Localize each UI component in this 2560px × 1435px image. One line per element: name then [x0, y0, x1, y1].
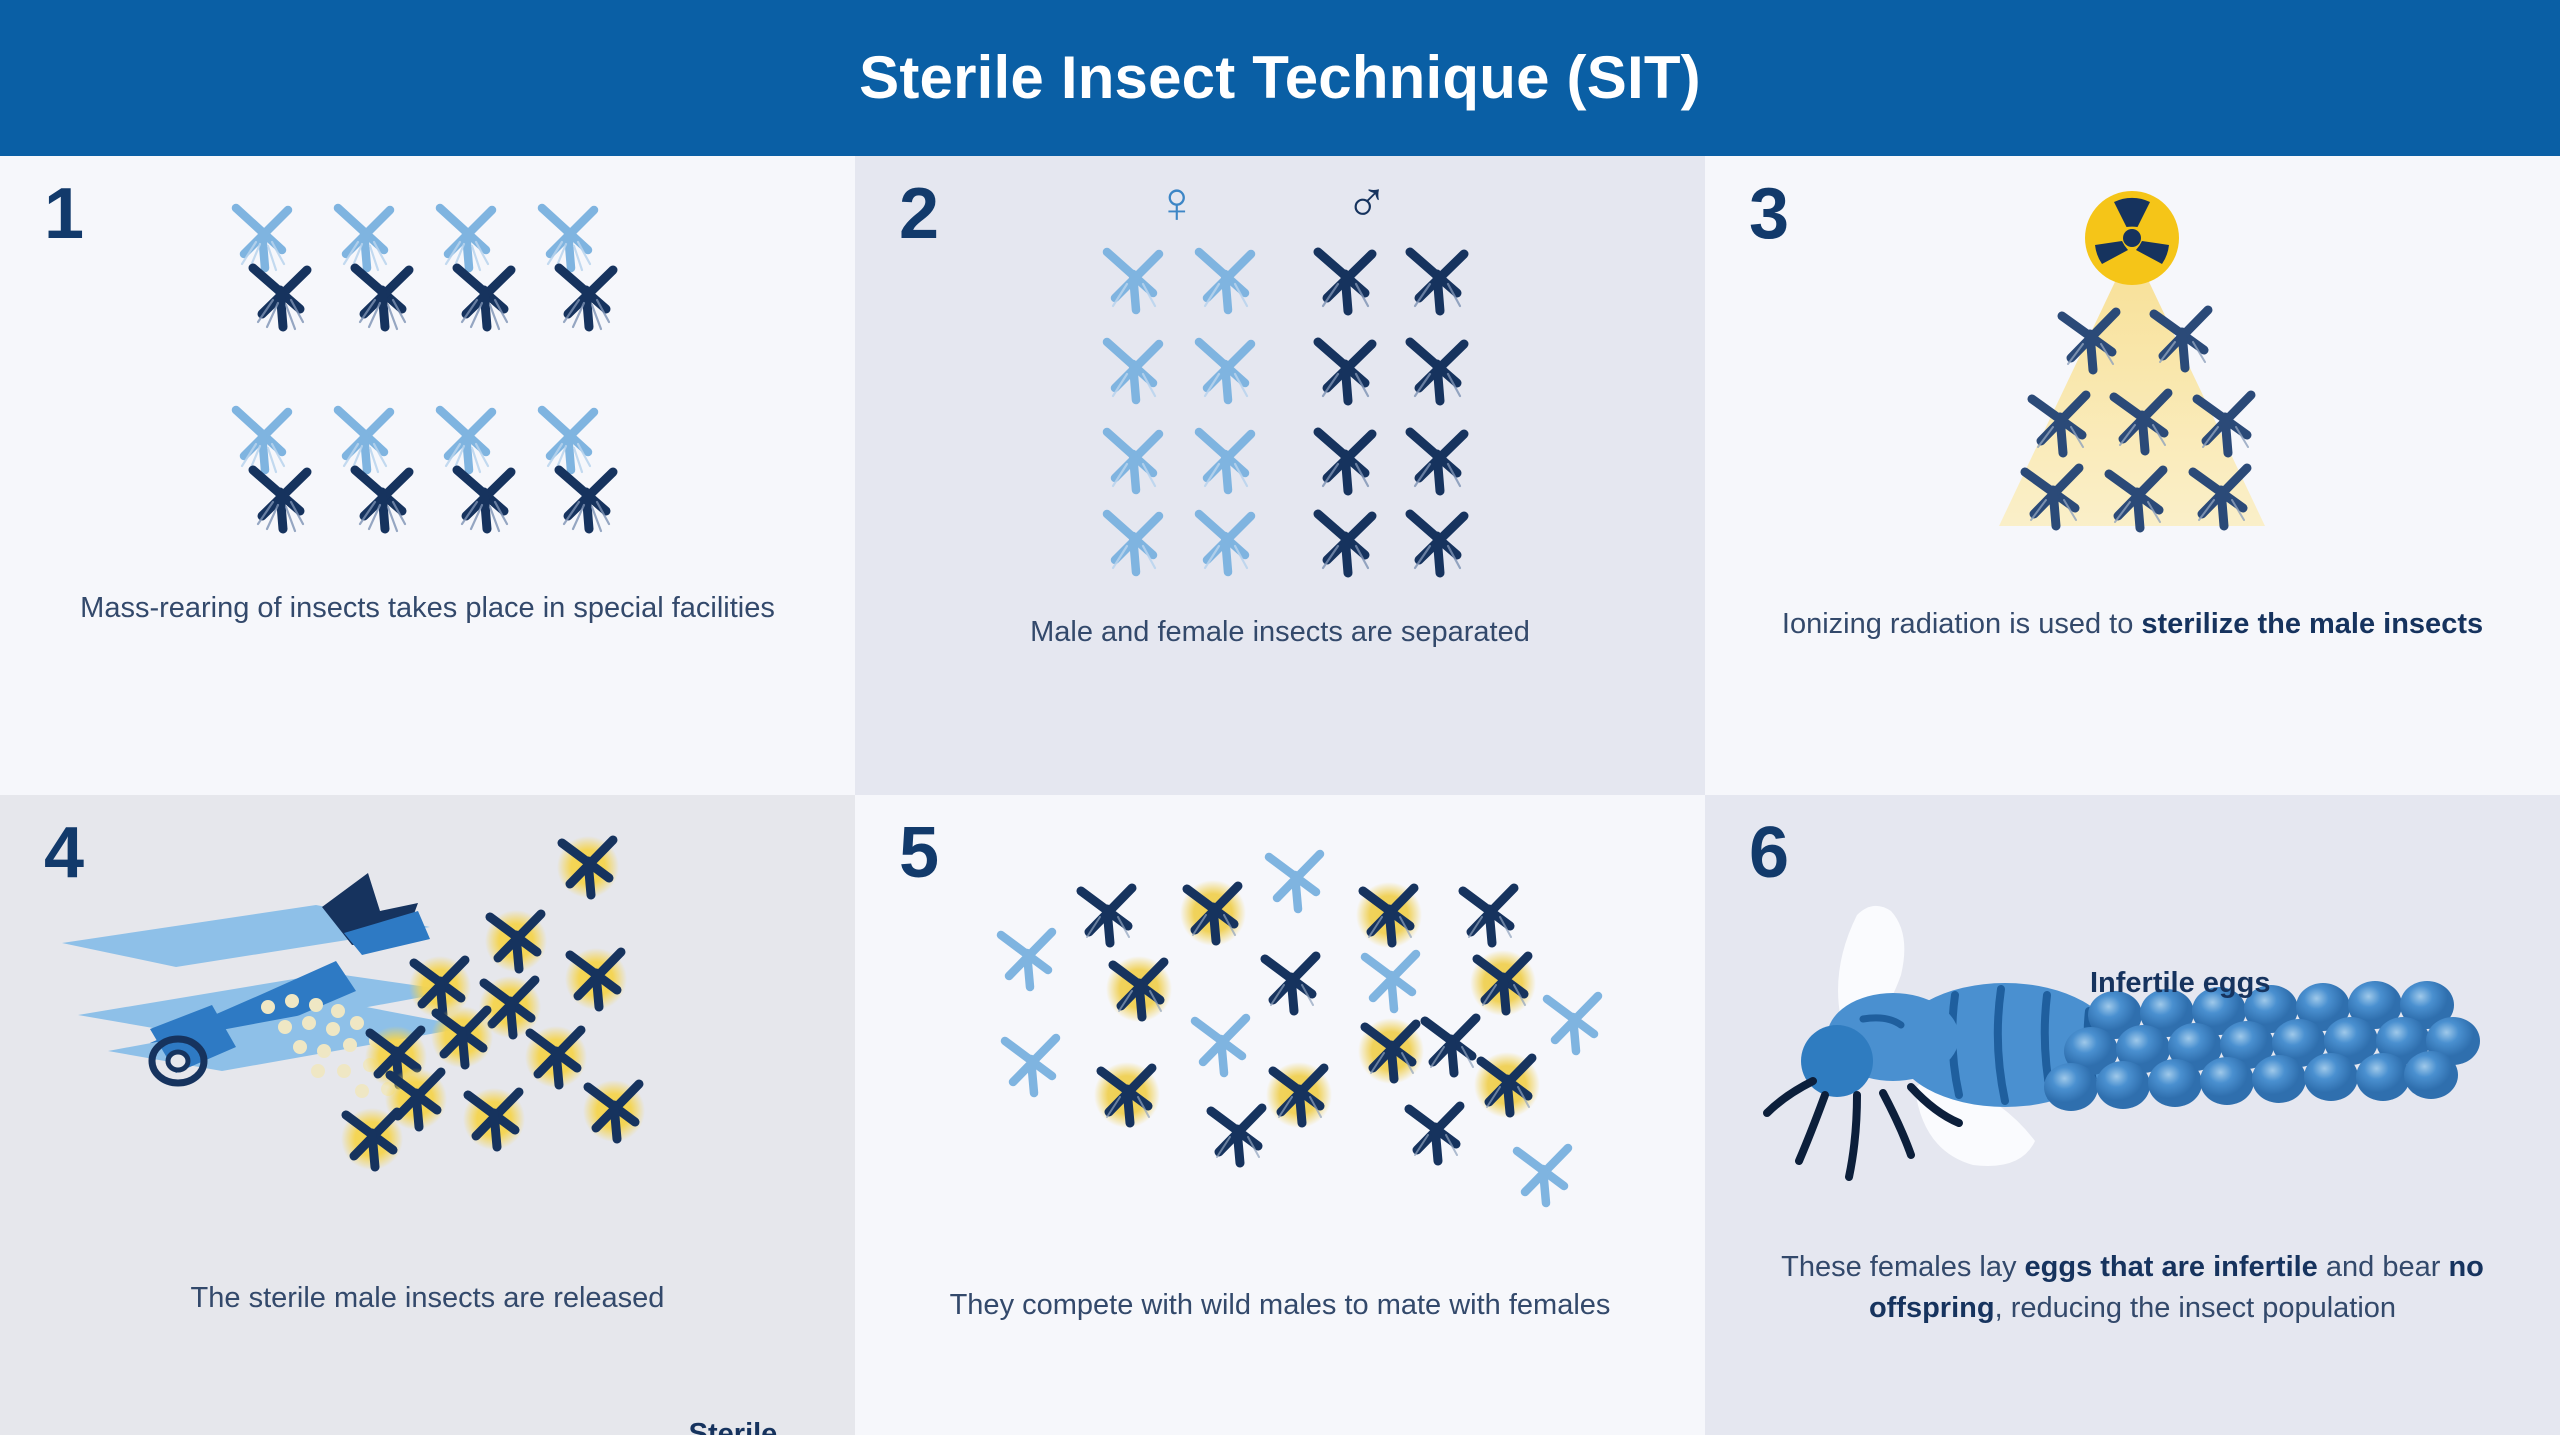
- panel-6-caption: These females lay eggs that are infertil…: [1705, 1247, 2560, 1329]
- male-symbol-icon: ♂: [1345, 174, 1389, 232]
- panel-6-caption-bold1: eggs that are infertile: [2025, 1251, 2318, 1283]
- panel-2-caption: Male and female insects are separated: [855, 612, 1705, 653]
- panel-5-caption: They compete with wild males to mate wit…: [855, 1285, 1705, 1326]
- fly-icon: [1767, 906, 2115, 1177]
- panel-3-caption-prefix: Ionizing radiation is used to: [1782, 608, 2142, 640]
- sit-infographic: Sterile Insect Technique (SIT) 1: [0, 0, 2560, 1435]
- panel-4: 4: [0, 795, 855, 1435]
- panel-4-illustration: [0, 815, 855, 1265]
- panel-6-caption-part3: , reducing the insect population: [1995, 1292, 2396, 1324]
- panel-1-caption: Mass-rearing of insects takes place in s…: [0, 588, 855, 629]
- panel-grid: 1: [0, 156, 2560, 1435]
- panel-6-caption-part1: These females lay: [1781, 1251, 2024, 1283]
- page-title: Sterile Insect Technique (SIT): [859, 48, 1701, 108]
- panel-3-caption-bold: sterilize the male insects: [2141, 608, 2483, 640]
- panel-3: 3: [1705, 156, 2560, 795]
- panel-2-illustration: [855, 238, 1705, 578]
- panel-6-illustration: [1705, 855, 2560, 1235]
- panel-6: 6: [1705, 795, 2560, 1435]
- header-bar: Sterile Insect Technique (SIT): [0, 0, 2560, 156]
- panel-3-illustration: [1705, 184, 2560, 574]
- egg-raft: [2044, 981, 2480, 1111]
- panel-1-illustration: [0, 156, 855, 626]
- infertile-eggs-label: Infertile eggs: [2090, 967, 2271, 1000]
- panel-5: 5: [855, 795, 1705, 1435]
- female-symbol-icon: ♀: [1155, 174, 1199, 232]
- radiation-icon: [2085, 191, 2179, 285]
- panel-2: 2 ♀ ♂: [855, 156, 1705, 795]
- panel-5-illustration: [855, 819, 1705, 1269]
- panel-4-caption: The sterile male insects are released: [0, 1278, 855, 1319]
- sterile-insects-label: Sterile insects: [638, 1415, 828, 1435]
- panel-6-caption-part2: and bear: [2318, 1251, 2449, 1283]
- panel-1: 1: [0, 156, 855, 795]
- panel-3-caption: Ionizing radiation is used to sterilize …: [1705, 604, 2560, 645]
